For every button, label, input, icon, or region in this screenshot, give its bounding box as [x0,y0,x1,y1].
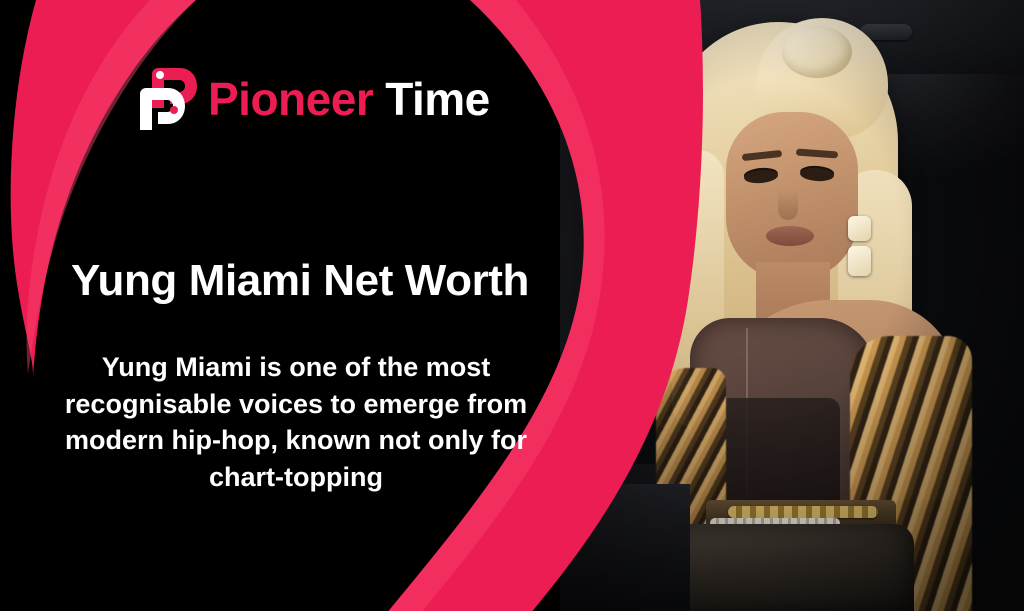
net-worth-banner: PioneerTime Yung Miami Net Worth Yung Mi… [0,0,1024,614]
brand-word-time: Time [385,73,490,125]
brand-wordmark: PioneerTime [208,76,490,122]
pioneer-p-monogram-icon [138,62,198,136]
page-title: Yung Miami Net Worth [0,257,600,305]
description-text: Yung Miami is one of the most recognisab… [26,349,566,496]
brand-word-pioneer: Pioneer [208,73,373,125]
brand-logo[interactable]: PioneerTime [138,62,490,136]
content-layer: PioneerTime Yung Miami Net Worth Yung Mi… [0,0,1024,614]
